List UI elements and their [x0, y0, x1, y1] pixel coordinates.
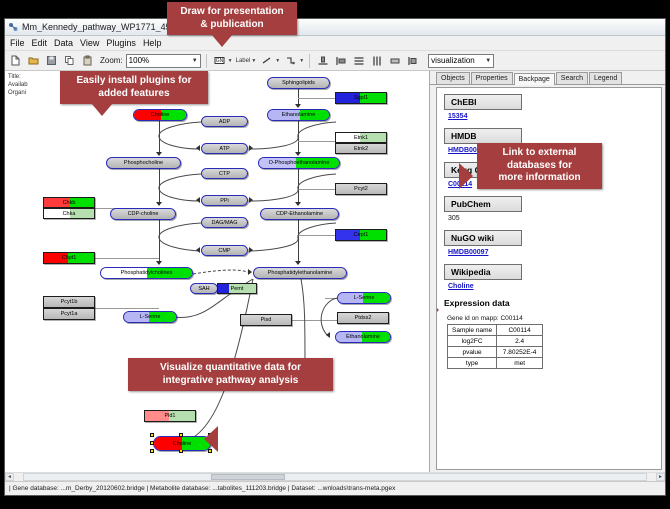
new-file-icon[interactable] — [8, 53, 23, 68]
tab-backpage[interactable]: Backpage — [514, 73, 555, 85]
gene-node-sgpl1[interactable]: Sgpl1 — [335, 92, 387, 104]
arrow-icon — [196, 145, 200, 151]
toolbar-separator — [206, 54, 207, 68]
database-header-pubchem: PubChem — [444, 196, 522, 212]
chevron-down-icon: ▼ — [192, 58, 198, 64]
edge-cdpcholine-ptdcho — [159, 220, 160, 264]
node-label: Phosphatidylethanolamine — [268, 270, 333, 276]
open-folder-icon[interactable] — [26, 53, 41, 68]
table-cell-value: C00114 — [497, 325, 543, 336]
node-label: CMP — [218, 248, 230, 254]
arrow-icon — [156, 261, 162, 265]
scrollbar-thumb[interactable] — [211, 474, 286, 480]
database-link-list: ChEBI15354HMDBHMDB00097Kegg CompoundC001… — [444, 94, 654, 290]
callout-draw: Draw for presentation & publication — [167, 2, 297, 35]
gene-node-chka[interactable]: Chka — [43, 208, 95, 219]
table-cell-value: 2.4 — [497, 336, 543, 347]
arrow-icon — [295, 261, 301, 265]
arrow-icon — [249, 145, 253, 151]
arrow-icon — [249, 197, 253, 203]
node-label: Chka — [63, 211, 76, 217]
table-row: Sample nameC00114 — [448, 325, 543, 336]
metabolite-node-phosphatidylethanolamine[interactable]: Phosphatidylethanolamine — [253, 267, 347, 279]
metabolite-node-l-serine-left[interactable]: L-Serine — [123, 311, 177, 323]
line-tool[interactable]: ▼ — [259, 53, 280, 68]
arrow-icon — [249, 247, 253, 253]
callout-plugins-tip — [91, 103, 113, 116]
paste-icon[interactable] — [80, 53, 95, 68]
node-label: Pld1 — [164, 413, 175, 419]
canvas-meta-organism: Organi — [8, 90, 26, 96]
gene-node-etnk1[interactable]: Etnk1 — [335, 132, 387, 143]
database-header-hmdb: HMDB — [444, 128, 522, 144]
gene-node-etnk2[interactable]: Etnk2 — [335, 143, 387, 154]
svg-text:GN: GN — [215, 58, 223, 64]
edge-etn-pethn — [298, 121, 299, 155]
edge-pcyt2-connector — [298, 189, 336, 190]
database-header-chebi: ChEBI — [444, 94, 522, 110]
database-link-chebi[interactable]: 15354 — [448, 113, 654, 120]
edge-sgpl1-connector — [298, 98, 336, 99]
table-cell-key: pvalue — [448, 347, 497, 358]
metabolite-node-cdp-ethanolamine[interactable]: CDP-Ethanolamine — [260, 208, 339, 220]
callout-visualize: Visualize quantitative data for integrat… — [128, 358, 333, 391]
node-label: O-Phosphoethanolamine — [269, 160, 330, 166]
canvas-meta-availability: Availab — [8, 82, 28, 88]
label-tool[interactable]: Label ▼ — [236, 58, 257, 64]
node-label: Ptdss2 — [355, 315, 372, 321]
database-link-nugo-wiki[interactable]: HMDB00097 — [448, 249, 654, 256]
node-label: SAH — [198, 286, 209, 292]
menu-bar: File Edit Data View Plugins Help — [5, 36, 665, 51]
edge-etnk-connector — [298, 141, 336, 142]
node-label: CDP-choline — [128, 211, 159, 217]
node-label: Ethanolamine — [346, 334, 380, 340]
node-label: CTP — [219, 171, 230, 177]
node-label: L-Serine — [354, 295, 375, 301]
metabolite-node-ppi[interactable]: PPi — [201, 195, 248, 206]
title-bar: Mm_Kennedy_pathway_WP1771_45176.gpml — [5, 19, 665, 36]
backpage-content: ChEBI15354HMDBHMDB00097Kegg CompoundC001… — [436, 87, 662, 470]
callout-visualize-tip — [204, 426, 218, 452]
table-cell-key: log2FC — [448, 336, 497, 347]
save-icon[interactable] — [44, 53, 59, 68]
node-label: Chpt1 — [62, 255, 77, 261]
gene-node-chpt1[interactable]: Chpt1 — [43, 252, 95, 264]
table-cell-value: 7.80252E-4 — [497, 347, 543, 358]
database-header-wikipedia: Wikipedia — [444, 264, 522, 280]
node-label: Choline — [151, 112, 170, 118]
callout-link-tip-lower — [436, 297, 439, 323]
metabolite-node-cdp-choline[interactable]: CDP-choline — [110, 208, 176, 220]
horizontal-scrollbar[interactable]: ◄ ► — [5, 472, 665, 481]
toolbar-separator — [309, 54, 310, 68]
datanode-icon[interactable]: GN — [212, 53, 227, 68]
arrow-icon — [295, 202, 301, 206]
arrow-icon — [196, 197, 200, 203]
tab-search[interactable]: Search — [556, 72, 588, 84]
node-label: Chkb — [63, 200, 76, 206]
edge-serine-connector — [325, 298, 337, 299]
toolbar: Zoom: 100% ▼ GN ▼ Label ▼ ▼ ▼ — [5, 51, 665, 71]
edge-pcyt1-connector — [95, 308, 159, 309]
metabolite-node-adp[interactable]: ADP — [201, 116, 248, 127]
arrow-icon — [248, 269, 252, 275]
node-label: ATP — [219, 146, 229, 152]
menu-item-view[interactable]: View — [80, 38, 99, 48]
arrow-icon — [326, 332, 330, 338]
table-cell-value: met — [497, 358, 543, 369]
expression-data-title: Expression data — [444, 298, 654, 308]
menu-item-data[interactable]: Data — [54, 38, 73, 48]
node-label: Sgpl1 — [354, 95, 368, 101]
scroll-right-icon[interactable]: ► — [656, 473, 665, 481]
pathway-canvas[interactable]: Title: Availab Organi — [5, 71, 430, 472]
chevron-down-icon: ▼ — [485, 58, 491, 64]
align-left-icon[interactable] — [333, 53, 348, 68]
table-row: typemet — [448, 358, 543, 369]
metabolite-node-sah[interactable]: SAH — [190, 283, 218, 294]
distribute-vertical-icon[interactable] — [351, 53, 366, 68]
gene-node-pemt[interactable]: Pemt — [217, 283, 257, 294]
data-overlay-left — [218, 284, 229, 293]
edge-cdpethn-ptdethn — [298, 220, 299, 264]
tab-objects[interactable]: Objects — [436, 72, 470, 84]
callout-plugins: Easily install plugins for added feature… — [60, 71, 208, 104]
node-label: Phosphocholine — [124, 160, 163, 166]
arrow-icon — [196, 247, 200, 253]
node-label: Sphingolipids — [282, 80, 315, 86]
node-label: PPi — [220, 198, 229, 204]
anchor-line-icon[interactable] — [283, 53, 298, 68]
menu-item-edit[interactable]: Edit — [32, 38, 48, 48]
table-cell-key: type — [448, 358, 497, 369]
main-content: Title: Availab Organi — [5, 71, 665, 472]
node-label: DAG/MAG — [212, 220, 238, 226]
metabolite-node-choline-top[interactable]: Choline — [133, 109, 187, 121]
metabolite-node-choline-selected[interactable]: Choline — [153, 436, 211, 451]
metabolite-node-sphingolipids[interactable]: Sphingolipids — [267, 77, 330, 89]
side-panel: Objects Properties Backpage Search Legen… — [430, 71, 665, 472]
app-icon — [8, 22, 18, 32]
node-label: Pcyt2 — [354, 186, 368, 192]
node-label: Choline — [173, 441, 192, 447]
gene-node-pcyt2[interactable]: Pcyt2 — [335, 183, 387, 195]
metabolite-node-cmp[interactable]: CMP — [201, 245, 248, 256]
gene-id-line: Gene id on mapp: C00114 — [447, 315, 654, 322]
datanode-tool[interactable]: GN ▼ — [212, 53, 233, 68]
edge-choline-phosphocholine — [159, 121, 160, 155]
table-row: pvalue7.80252E-4 — [448, 347, 543, 358]
edge-pethn-cdpethn — [298, 169, 299, 205]
metabolite-node-phosphocholine[interactable]: Phosphocholine — [106, 157, 181, 169]
node-label: Pemt — [231, 286, 244, 292]
node-label: Pcyt1a — [61, 311, 78, 317]
status-text: | Gene database: ...m_Derby_20120602.bri… — [9, 485, 395, 492]
expression-data-table: Sample nameC00114log2FC2.4pvalue7.80252E… — [447, 324, 543, 369]
metabolite-node-l-serine-right[interactable]: L-Serine — [337, 292, 391, 304]
edge-pisd-connector — [292, 320, 338, 321]
zoom-label: Zoom: — [100, 56, 123, 65]
callout-draw-tip — [211, 34, 233, 47]
edge-cept1-connector — [298, 235, 336, 236]
gene-node-pld1[interactable]: Pld1 — [144, 410, 196, 422]
node-label: L-Serine — [140, 314, 161, 320]
scroll-left-icon[interactable]: ◄ — [5, 473, 14, 481]
edge-phosphocholine-cdpcholine — [159, 169, 160, 205]
edge-chpt1-connector — [95, 258, 159, 259]
anchor-line-tool[interactable]: ▼ — [283, 53, 304, 68]
chevron-down-icon[interactable]: ▼ — [251, 58, 256, 64]
tab-legend[interactable]: Legend — [589, 72, 622, 84]
tab-strip: Objects Properties Backpage Search Legen… — [430, 71, 665, 85]
node-label: Pisd — [261, 317, 272, 323]
callout-link: Link to external databases for more info… — [477, 143, 602, 189]
node-label: Pcyt1b — [61, 299, 78, 305]
menu-item-help[interactable]: Help — [143, 38, 162, 48]
zoom-value: 100% — [129, 56, 149, 65]
gene-node-pcyt1b[interactable]: Pcyt1b — [43, 296, 95, 308]
metabolite-node-atp[interactable]: ATP — [201, 143, 248, 154]
stack-icon[interactable] — [405, 53, 420, 68]
status-bar: | Gene database: ...m_Derby_20120602.bri… — [5, 481, 665, 495]
gene-node-chkb[interactable]: Chkb — [43, 197, 95, 208]
align-bottom-icon[interactable] — [315, 53, 330, 68]
metabolite-node-o-phosphoethanolamine[interactable]: O-Phosphoethanolamine — [258, 157, 340, 169]
gene-node-ptdss2[interactable]: Ptdss2 — [337, 312, 389, 324]
tab-properties[interactable]: Properties — [471, 72, 513, 84]
copy-icon[interactable] — [62, 53, 77, 68]
node-label: ADP — [219, 119, 230, 125]
node-label: Etnk1 — [354, 135, 368, 141]
callout-link-tip — [459, 163, 473, 189]
database-link-wikipedia[interactable]: Choline — [448, 283, 654, 290]
line-icon[interactable] — [259, 53, 274, 68]
same-width-icon[interactable] — [387, 53, 402, 68]
visualization-value: visualization — [431, 56, 475, 65]
node-label: Phosphatidylcholines — [121, 270, 173, 276]
node-label: Ethanolamine — [282, 112, 316, 118]
table-cell-key: Sample name — [448, 325, 497, 336]
node-label: Cept1 — [354, 232, 369, 238]
visualization-select[interactable]: visualization ▼ — [428, 54, 494, 68]
arrow-icon — [156, 202, 162, 206]
node-label: CDP-Ethanolamine — [276, 211, 323, 217]
table-row: log2FC2.4 — [448, 336, 543, 347]
distribute-horizontal-icon[interactable] — [369, 53, 384, 68]
chevron-down-icon[interactable]: ▼ — [228, 58, 233, 64]
menu-item-file[interactable]: File — [10, 38, 25, 48]
arrow-icon — [295, 104, 301, 108]
metabolite-node-ctp[interactable]: CTP — [201, 168, 248, 179]
database-value-pubchem: 305 — [448, 215, 654, 222]
label-tool-text: Label — [236, 58, 251, 64]
gene-node-cept1[interactable]: Cept1 — [335, 229, 387, 241]
metabolite-node-dag-mag[interactable]: DAG/MAG — [201, 217, 248, 228]
metabolite-node-ethanolamine-bottom[interactable]: Ethanolamine — [335, 331, 391, 343]
scrollbar-track[interactable] — [23, 473, 647, 481]
metabolite-node-phosphatidylcholines[interactable]: Phosphatidylcholines — [100, 267, 193, 279]
database-header-nugo-wiki: NuGO wiki — [444, 230, 522, 246]
arrow-icon — [295, 152, 301, 156]
application-window: Mm_Kennedy_pathway_WP1771_45176.gpml Fil… — [4, 18, 666, 496]
metabolite-node-ethanolamine-top[interactable]: Ethanolamine — [267, 109, 330, 121]
arrow-icon — [156, 152, 162, 156]
canvas-meta-title: Title: — [8, 74, 21, 80]
menu-item-plugins[interactable]: Plugins — [106, 38, 136, 48]
gene-node-pcyt1a[interactable]: Pcyt1a — [43, 308, 95, 320]
chevron-down-icon[interactable]: ▼ — [299, 58, 304, 64]
gene-node-pisd[interactable]: Pisd — [240, 314, 292, 326]
chevron-down-icon[interactable]: ▼ — [275, 58, 280, 64]
zoom-select[interactable]: 100% ▼ — [126, 54, 201, 68]
node-label: Etnk2 — [354, 146, 368, 152]
